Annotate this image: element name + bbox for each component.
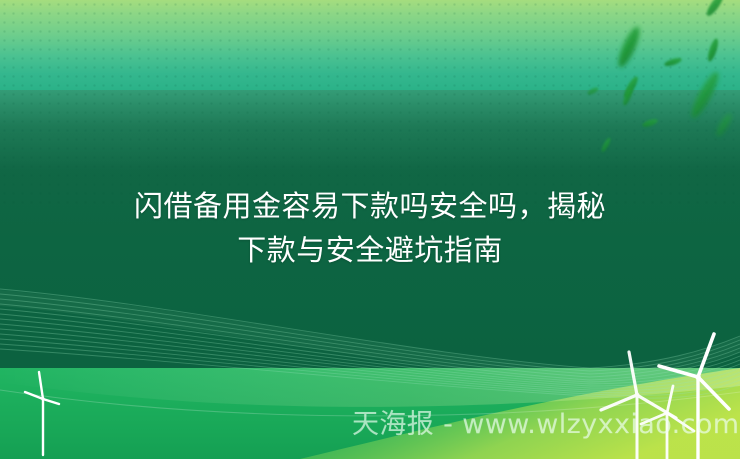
poster-title-line-2: 下款与安全避坑指南: [0, 228, 740, 272]
halftone-dots-pattern: [0, 0, 740, 90]
poster-title-line-1: 闪借备用金容易下款吗安全吗，揭秘: [0, 184, 740, 228]
watermark-text: 天海报 - www.wlzyxxiao.com: [352, 408, 740, 442]
poster-canvas: 闪借备用金容易下款吗安全吗，揭秘 下款与安全避坑指南 天海报 - www.wlz…: [0, 0, 740, 459]
top-gradient-band: [0, 0, 740, 90]
poster-title: 闪借备用金容易下款吗安全吗，揭秘 下款与安全避坑指南: [0, 184, 740, 272]
